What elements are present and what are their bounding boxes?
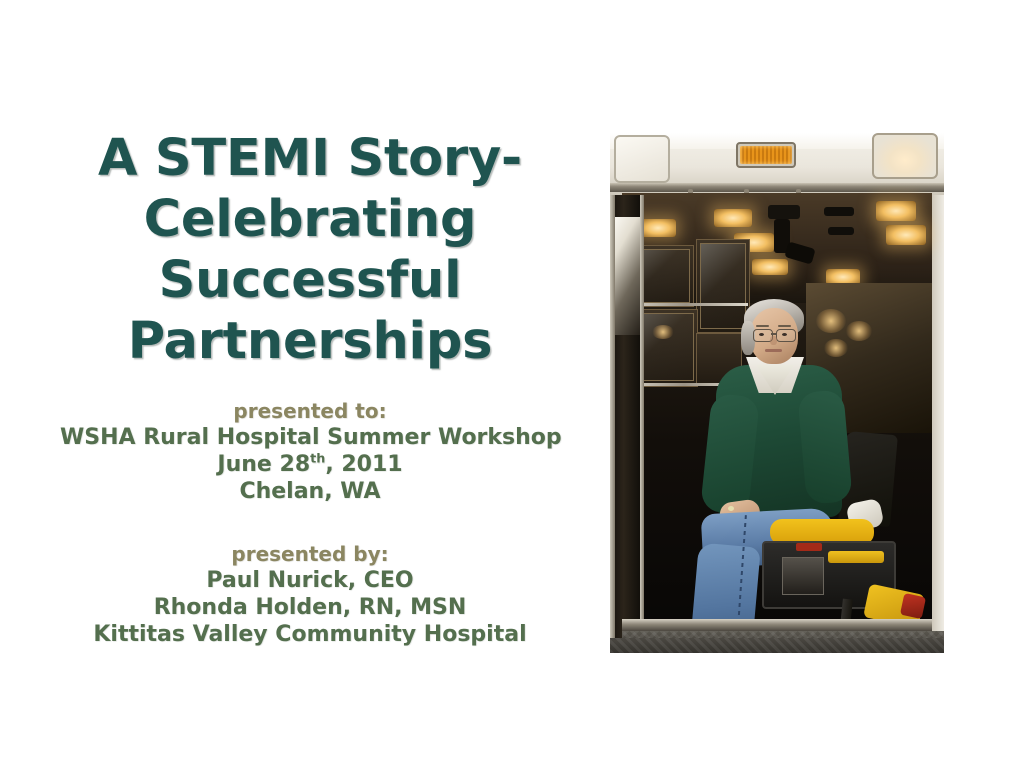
title-line-3: Successful (60, 250, 560, 311)
person-eye (782, 333, 787, 336)
light-reflection (824, 339, 848, 357)
presented-to-label: presented to: (60, 398, 560, 424)
chrome-drip-rail (610, 183, 944, 192)
person-brow (778, 325, 791, 327)
rear-bumper-lip (610, 638, 944, 653)
gurney-equipment-box (782, 557, 824, 595)
ambulance-photo-canvas (610, 133, 944, 653)
ceiling-rail-clip (828, 227, 854, 235)
gurney-red-strap (796, 543, 822, 551)
person-ring (728, 506, 734, 511)
ceiling-dome-light (886, 225, 926, 245)
ceiling-dome-light (640, 219, 676, 237)
title-line-4: Partnerships (60, 311, 560, 372)
eyeglasses-bridge (771, 333, 777, 335)
ceiling-equipment-bracket (768, 205, 800, 219)
amber-marker-light (736, 142, 796, 168)
ceiling-dome-light (876, 201, 916, 221)
presentation-slide: A STEMI Story- Celebrating Successful Pa… (0, 0, 1024, 768)
slide-title: A STEMI Story- Celebrating Successful Pa… (60, 128, 560, 372)
presented-to-city: Chelan, WA (60, 478, 560, 505)
cabinet-glass (700, 243, 746, 329)
title-line-2: Celebrating (60, 189, 560, 250)
person-arm-right (797, 389, 853, 505)
ceiling-dome-light (714, 209, 752, 227)
slide-text-column: A STEMI Story- Celebrating Successful Pa… (60, 128, 560, 648)
ambulance-photo (610, 133, 944, 653)
door-edge-chrome (610, 195, 615, 651)
amber-marker-lens (740, 146, 792, 164)
door-edge-chrome (640, 195, 644, 651)
ceiling-dome-light (752, 259, 788, 275)
presented-to-block: presented to: WSHA Rural Hospital Summer… (60, 398, 560, 505)
door-threshold (622, 619, 932, 631)
presenter-2: Rhonda Holden, RN, MSN (60, 594, 560, 621)
gurney-yellow-bar (828, 551, 884, 563)
title-line-1: A STEMI Story- (60, 128, 560, 189)
light-reflection (816, 309, 846, 333)
presented-to-venue: WSHA Rural Hospital Summer Workshop (60, 424, 560, 451)
block-spacer (60, 505, 560, 541)
gurney-red-release (900, 593, 926, 619)
person-brow (756, 325, 769, 327)
date-prefix: June 28 (217, 452, 310, 477)
date-suffix: , 2011 (325, 452, 402, 477)
door-jamb-right (932, 195, 944, 639)
light-reflection (652, 325, 674, 339)
presented-by-block: presented by: Paul Nurick, CEO Rhonda Ho… (60, 541, 560, 648)
presented-by-label: presented by: (60, 541, 560, 567)
presenter-1: Paul Nurick, CEO (60, 567, 560, 594)
light-reflection (846, 321, 872, 341)
presented-to-date: June 28th, 2011 (60, 451, 560, 478)
person-nose (770, 336, 777, 345)
presenter-organization: Kittitas Valley Community Hospital (60, 621, 560, 648)
person-eye (759, 333, 764, 336)
ceiling-rail-clip (824, 207, 854, 216)
date-superscript: th (310, 452, 325, 467)
ambulance-panel-left (614, 135, 670, 183)
ambulance-panel-right (872, 133, 938, 179)
person-mouth (765, 349, 782, 352)
rear-door-window (614, 217, 640, 335)
